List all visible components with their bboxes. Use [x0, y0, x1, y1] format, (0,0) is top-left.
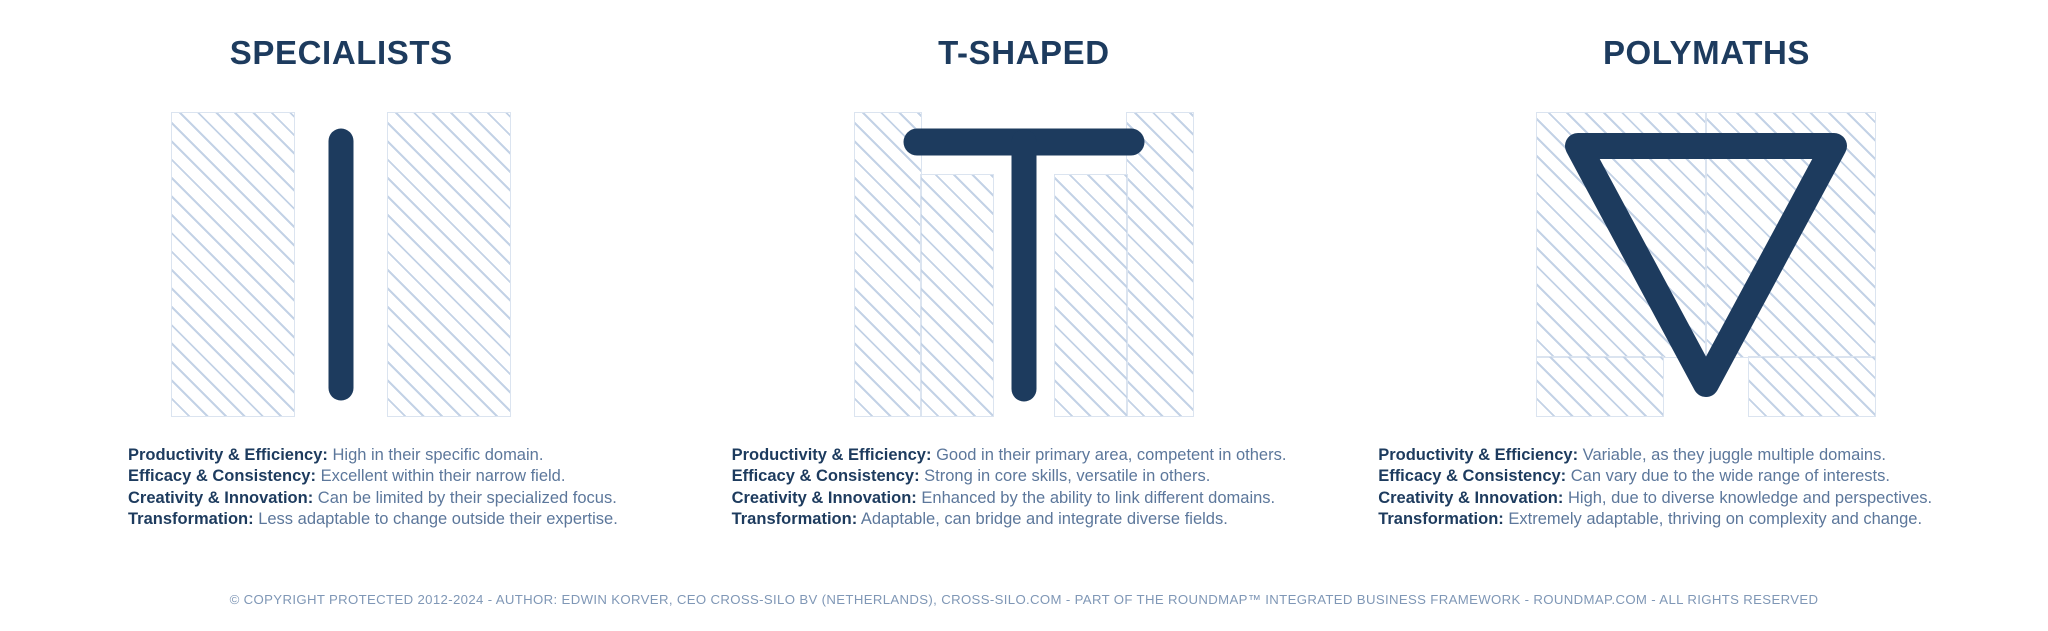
attribute-label: Efficacy & Consistency: [1378, 467, 1566, 485]
attribute-label: Efficacy & Consistency: [128, 467, 316, 485]
attribute-row: Transformation: Extremely adaptable, thr… [1378, 509, 1932, 530]
inverted-triangle-icon [1536, 112, 1876, 417]
attribute-label: Creativity & Innovation: [732, 489, 917, 507]
attribute-label: Transformation: [1378, 510, 1504, 528]
attribute-row: Creativity & Innovation: Can be limited … [128, 488, 618, 509]
column-tshaped: T-SHAPED Productivity & Efficiency: Go [683, 0, 1366, 560]
attribute-label: Transformation: [732, 510, 858, 528]
graphic-stage-specialists [0, 112, 683, 432]
column-heading-tshaped: T-SHAPED [683, 34, 1366, 72]
column-heading-polymaths: POLYMATHS [1365, 34, 2048, 72]
graphic-stage-tshaped [683, 112, 1366, 432]
attribute-value: High, due to diverse knowledge and persp… [1568, 489, 1932, 507]
columns-container: SPECIALISTS Productivity & Efficiency: H… [0, 0, 2048, 560]
attribute-label: Productivity & Efficiency: [1378, 446, 1578, 464]
attribute-row: Transformation: Less adaptable to change… [128, 509, 618, 530]
attribute-label: Creativity & Innovation: [1378, 489, 1563, 507]
attribute-row: Transformation: Adaptable, can bridge an… [732, 509, 1287, 530]
attribute-value: Variable, as they juggle multiple domain… [1583, 446, 1886, 464]
column-specialists: SPECIALISTS Productivity & Efficiency: H… [0, 0, 683, 560]
attribute-row: Productivity & Efficiency: Good in their… [732, 445, 1287, 466]
attribute-row: Productivity & Efficiency: Variable, as … [1378, 445, 1932, 466]
attribute-row: Efficacy & Consistency: Excellent within… [128, 466, 618, 487]
i-shaped-bar-icon [171, 112, 511, 417]
skill-profile-infographic: SPECIALISTS Productivity & Efficiency: H… [0, 0, 2048, 631]
attribute-label: Productivity & Efficiency: [732, 446, 932, 464]
attribute-value: Enhanced by the ability to link differen… [921, 489, 1275, 507]
attribute-value: Can be limited by their specialized focu… [318, 489, 617, 507]
graphic-stage-polymaths [1365, 112, 2048, 432]
attribute-value: High in their specific domain. [332, 446, 543, 464]
attribute-value: Less adaptable to change outside their e… [258, 510, 618, 528]
attribute-label: Transformation: [128, 510, 254, 528]
attribute-list-tshaped: Productivity & Efficiency: Good in their… [732, 445, 1287, 530]
attribute-list-specialists: Productivity & Efficiency: High in their… [128, 445, 618, 530]
attribute-value: Excellent within their narrow field. [321, 467, 566, 485]
attribute-label: Productivity & Efficiency: [128, 446, 328, 464]
attribute-row: Creativity & Innovation: High, due to di… [1378, 488, 1932, 509]
attribute-value: Can vary due to the wide range of intere… [1571, 467, 1890, 485]
column-polymaths: POLYMATHS Productivity & Efficiency: Var… [1365, 0, 2048, 560]
attribute-value: Good in their primary area, competent in… [936, 446, 1286, 464]
attribute-row: Efficacy & Consistency: Can vary due to … [1378, 466, 1932, 487]
attribute-list-polymaths: Productivity & Efficiency: Variable, as … [1378, 445, 1932, 530]
attribute-row: Productivity & Efficiency: High in their… [128, 445, 618, 466]
copyright-footer: © COPYRIGHT PROTECTED 2012-2024 - AUTHOR… [0, 592, 2048, 607]
attribute-label: Creativity & Innovation: [128, 489, 313, 507]
attribute-label: Efficacy & Consistency: [732, 467, 920, 485]
attribute-row: Efficacy & Consistency: Strong in core s… [732, 466, 1287, 487]
attribute-row: Creativity & Innovation: Enhanced by the… [732, 488, 1287, 509]
column-heading-specialists: SPECIALISTS [0, 34, 683, 72]
attribute-value: Strong in core skills, versatile in othe… [924, 467, 1210, 485]
t-shaped-icon [854, 112, 1194, 417]
attribute-value: Adaptable, can bridge and integrate dive… [861, 510, 1228, 528]
attribute-value: Extremely adaptable, thriving on complex… [1508, 510, 1922, 528]
